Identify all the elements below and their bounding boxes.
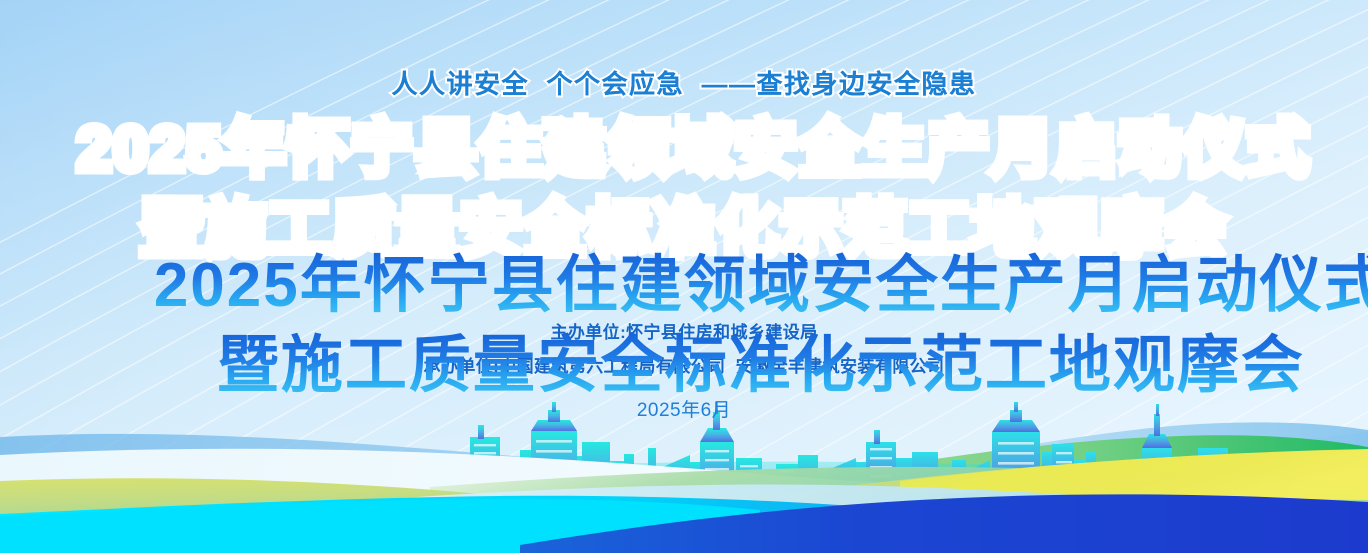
banner-stage: 人人讲安全 个个会应急 ——查找身边安全隐患 人人讲安全 个个会应急 ——查找身… (0, 0, 1368, 553)
main-title-line1: 2025年怀宁县住建领域安全生产月启动仪式 (154, 251, 1368, 320)
slogan-text: 人人讲安全 个个会应急 ——查找身边安全隐患 (0, 64, 1368, 101)
main-title-line1-stroke: 2025年怀宁县住建领域安全生产月启动仪式 (0, 116, 1368, 184)
main-title-line2: 暨施工质量安全标准化示范工地观摩会 (217, 331, 1305, 400)
